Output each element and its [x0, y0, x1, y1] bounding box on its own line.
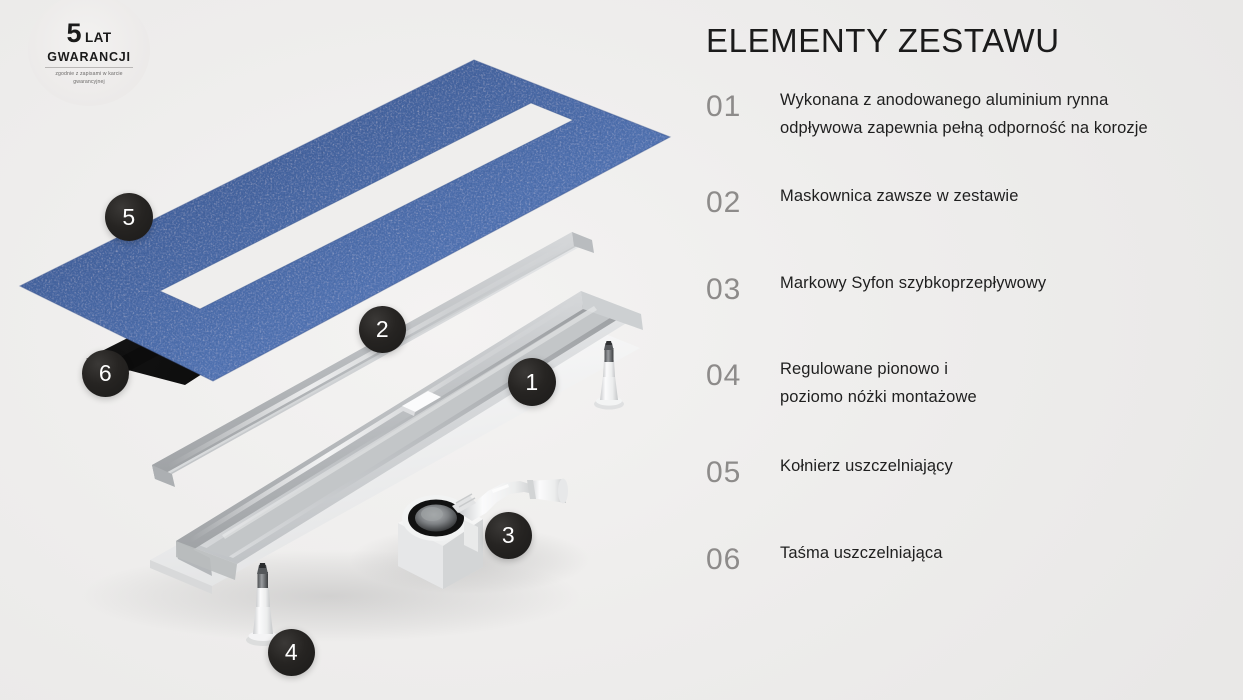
feature-number-02: 02: [706, 188, 780, 218]
feature-line2-04: poziomo nóżki montażowe: [780, 383, 977, 411]
feature-number-06: 06: [706, 545, 780, 575]
callout-badge-5[interactable]: 5: [105, 193, 153, 241]
callout-badge-3[interactable]: 3: [485, 512, 532, 559]
feature-number-04: 04: [706, 361, 780, 391]
product-exploded-view: 5 6 2 1 3 4: [0, 0, 690, 700]
feature-line1-06: Taśma uszczelniająca: [780, 544, 943, 562]
feature-text-04: Regulowane pionowo i poziomo nóżki monta…: [780, 355, 977, 411]
feature-line1-01: Wykonana z anodowanego aluminium rynna: [780, 91, 1108, 109]
callout-badge-1[interactable]: 1: [508, 358, 556, 406]
feature-item-06: 06 Taśma uszczelniająca: [706, 539, 1243, 575]
page-title: ELEMENTY ZESTAWU: [706, 22, 1060, 60]
feature-line1-02: Maskownica zawsze w zestawie: [780, 187, 1018, 205]
feature-line2-01: odpływowa zapewnia pełną odporność na ko…: [780, 114, 1148, 142]
feature-item-05: 05 Kołnierz uszczelniający: [706, 452, 1243, 488]
features-panel: ELEMENTY ZESTAWU 01 Wykonana z anodowane…: [706, 0, 1243, 700]
feature-text-01: Wykonana z anodowanego aluminium rynna o…: [780, 86, 1148, 142]
feature-number-01: 01: [706, 92, 780, 122]
feature-text-06: Taśma uszczelniająca: [780, 539, 943, 567]
feature-item-01: 01 Wykonana z anodowanego aluminium rynn…: [706, 86, 1243, 142]
feature-number-05: 05: [706, 458, 780, 488]
callout-badge-4[interactable]: 4: [268, 629, 315, 676]
feature-text-03: Markowy Syfon szybkoprzepływowy: [780, 269, 1046, 297]
feature-item-02: 02 Maskownica zawsze w zestawie: [706, 182, 1243, 218]
feature-item-04: 04 Regulowane pionowo i poziomo nóżki mo…: [706, 355, 1243, 411]
feature-line1-05: Kołnierz uszczelniający: [780, 457, 953, 475]
infographic-canvas: 5 LAT GWARANCJI zgodnie z zapisami w kar…: [0, 0, 1243, 700]
feature-item-03: 03 Markowy Syfon szybkoprzepływowy: [706, 269, 1243, 305]
callout-badge-6[interactable]: 6: [82, 350, 129, 397]
feature-line1-03: Markowy Syfon szybkoprzepływowy: [780, 274, 1046, 292]
feature-number-03: 03: [706, 275, 780, 305]
feature-text-02: Maskownica zawsze w zestawie: [780, 182, 1018, 210]
callout-badge-2[interactable]: 2: [359, 306, 406, 353]
feature-text-05: Kołnierz uszczelniający: [780, 452, 953, 480]
feature-line1-04: Regulowane pionowo i: [780, 360, 948, 378]
